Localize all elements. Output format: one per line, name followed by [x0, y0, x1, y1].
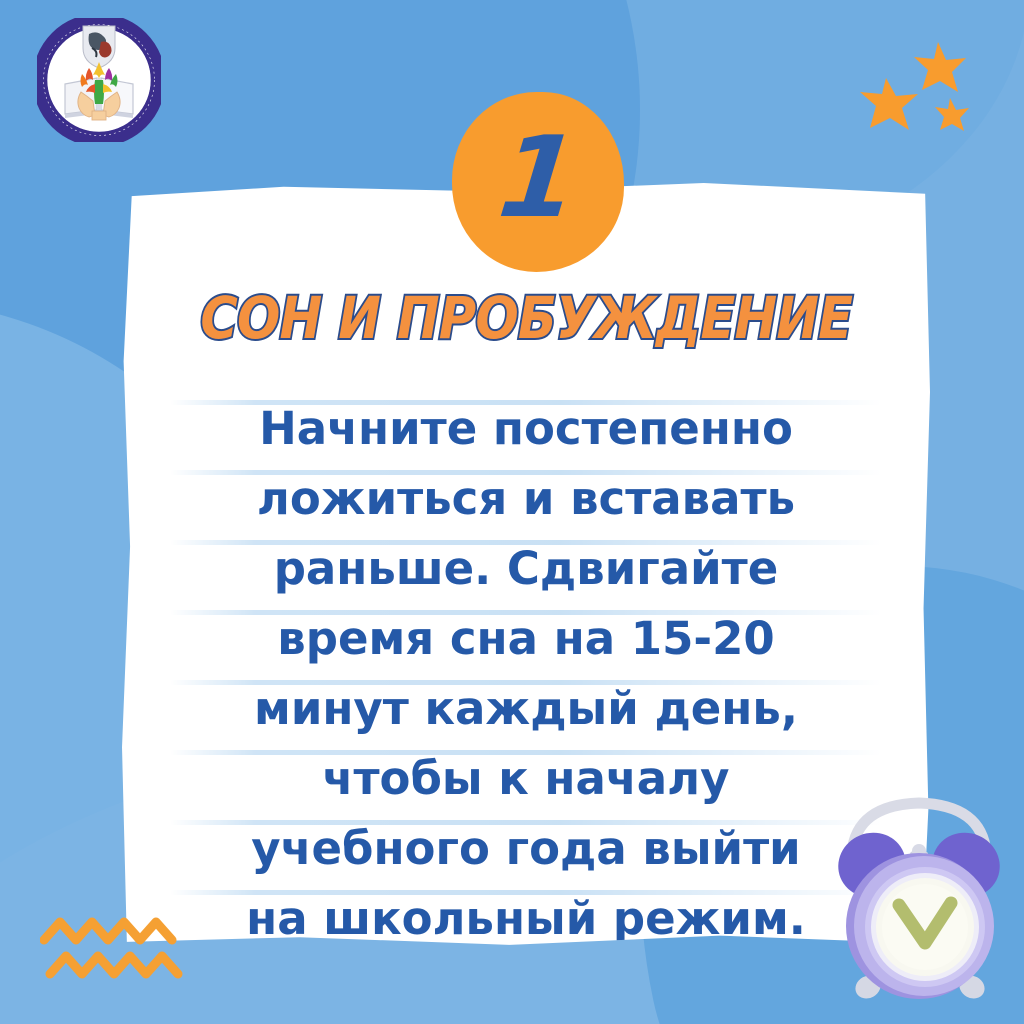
advice-line: время сна на 15-20 — [172, 604, 880, 674]
advice-line: раньше. Сдвигайте — [172, 534, 880, 604]
step-number: 1 — [494, 122, 582, 234]
emblem-icon — [37, 18, 161, 142]
zigzag-icon — [40, 916, 190, 982]
section-title: СОН И ПРОБУЖДЕНИЕ — [122, 284, 930, 352]
step-number-badge: 1 — [452, 92, 624, 272]
advice-line: чтобы к началу — [172, 744, 880, 814]
zigzag-decoration — [40, 916, 190, 982]
advice-line: Начните постепенно — [172, 394, 880, 464]
advice-line: минут каждый день, — [172, 674, 880, 744]
poster-canvas: СОН И ПРОБУЖДЕНИЕ Начните постепенно лож… — [0, 0, 1024, 1024]
content-card: СОН И ПРОБУЖДЕНИЕ Начните постепенно лож… — [122, 176, 930, 948]
stars-icon — [846, 36, 996, 166]
section-title-text: СОН И ПРОБУЖДЕНИЕ — [200, 284, 852, 352]
stars-decoration — [846, 36, 996, 166]
advice-line: ложиться и вставать — [172, 464, 880, 534]
advice-line: учебного года выйти — [172, 814, 880, 884]
advice-text: Начните постепенно ложиться и вставать р… — [172, 394, 880, 954]
alarm-clock-icon — [826, 791, 1012, 1016]
organization-logo — [37, 18, 161, 142]
alarm-clock-illustration — [826, 791, 1012, 1016]
